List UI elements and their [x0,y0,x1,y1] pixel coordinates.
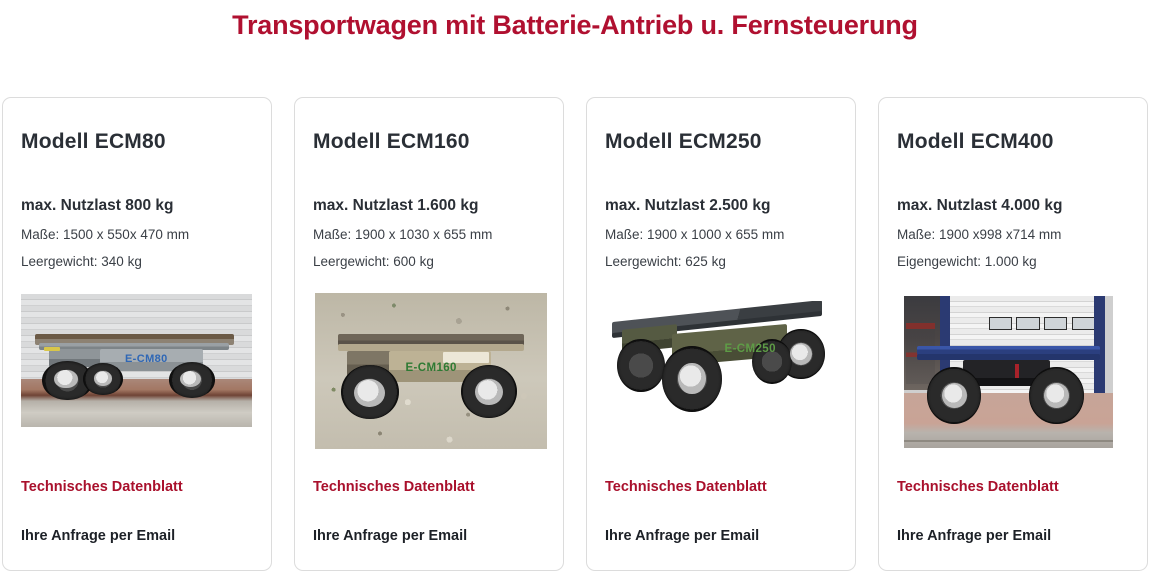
email-inquiry-link[interactable]: Ihre Anfrage per Email [21,528,175,544]
product-photo-wrap: E-CM250 [587,296,856,456]
cart-wheel-hub [678,363,706,395]
cart-wheel-hub [94,371,112,386]
datasheet-link[interactable]: Technisches Datenblatt [605,479,767,495]
card-payload: max. Nutzlast 800 kg [21,197,253,215]
product-photo-ecm400 [904,296,1113,448]
card-weight: Leergewicht: 625 kg [605,254,837,269]
product-photo-wrap: E-CM80 [3,294,272,454]
cart-model-badge: E-CM160 [405,362,456,374]
cart-wheel-hub [475,379,503,406]
cart-illustration: E-CM80 [21,294,252,427]
datasheet-link[interactable]: Technisches Datenblatt [897,479,1059,495]
product-photo-ecm80: E-CM80 [21,294,252,427]
card-dimensions: Maße: 1900 x 1000 x 655 mm [605,227,837,242]
cart-wheel-hub [942,383,967,409]
cart-wheel [617,339,665,392]
email-inquiry-link[interactable]: Ihre Anfrage per Email [605,528,759,544]
email-inquiry-link[interactable]: Ihre Anfrage per Email [897,528,1051,544]
cart-deck-rail [917,354,1101,360]
page-title: Transportwagen mit Batterie-Antrieb u. F… [0,10,1150,41]
product-card-ecm160[interactable]: Modell ECM160 max. Nutzlast 1.600 kg Maß… [294,97,564,571]
cart-model-badge: E-CM80 [125,353,168,365]
datasheet-link[interactable]: Technisches Datenblatt [313,479,475,495]
product-photo-ecm250: E-CM250 [597,301,847,427]
card-dimensions: Maße: 1900 x 1030 x 655 mm [313,227,545,242]
card-weight: Eigengewicht: 1.000 kg [897,254,1129,269]
product-photo-wrap: E-CM160 [295,293,564,453]
card-weight: Leergewicht: 600 kg [313,254,545,269]
cart-wheel-hub [790,343,813,366]
product-photo-ecm160: E-CM160 [315,293,547,449]
cart-model-badge: E-CM250 [725,343,776,355]
product-card-row: Modell ECM80 max. Nutzlast 800 kg Maße: … [2,97,1148,571]
cart-illustration: E-CM160 [315,293,547,449]
product-card-ecm80[interactable]: Modell ECM80 max. Nutzlast 800 kg Maße: … [2,97,272,571]
cart-deck-rail [338,344,524,350]
card-dimensions: Maße: 1500 x 550x 470 mm [21,227,253,242]
card-payload: max. Nutzlast 1.600 kg [313,197,545,215]
product-card-ecm400[interactable]: Modell ECM400 max. Nutzlast 4.000 kg Maß… [878,97,1148,571]
cart-wheel-hub [354,379,384,407]
cart-wheel-hub [54,370,77,389]
product-card-ecm250[interactable]: Modell ECM250 max. Nutzlast 2.500 kg Maß… [586,97,856,571]
card-weight: Leergewicht: 340 kg [21,254,253,269]
email-inquiry-link[interactable]: Ihre Anfrage per Email [313,528,467,544]
card-title: Modell ECM160 [313,130,545,154]
card-payload: max. Nutzlast 4.000 kg [897,197,1129,215]
product-overview-page: Transportwagen mit Batterie-Antrieb u. F… [0,0,1150,581]
cart-illustration: E-CM250 [597,301,847,427]
card-dimensions: Maße: 1900 x998 x714 mm [897,227,1129,242]
card-title: Modell ECM400 [897,130,1129,154]
cart-marker [44,347,60,351]
cart-illustration [904,296,1113,448]
product-photo-wrap [879,296,1148,456]
card-title: Modell ECM80 [21,130,253,154]
card-payload: max. Nutzlast 2.500 kg [605,197,837,215]
datasheet-link[interactable]: Technisches Datenblatt [21,479,183,495]
cart-marker [1015,364,1019,378]
card-title: Modell ECM250 [605,130,837,154]
